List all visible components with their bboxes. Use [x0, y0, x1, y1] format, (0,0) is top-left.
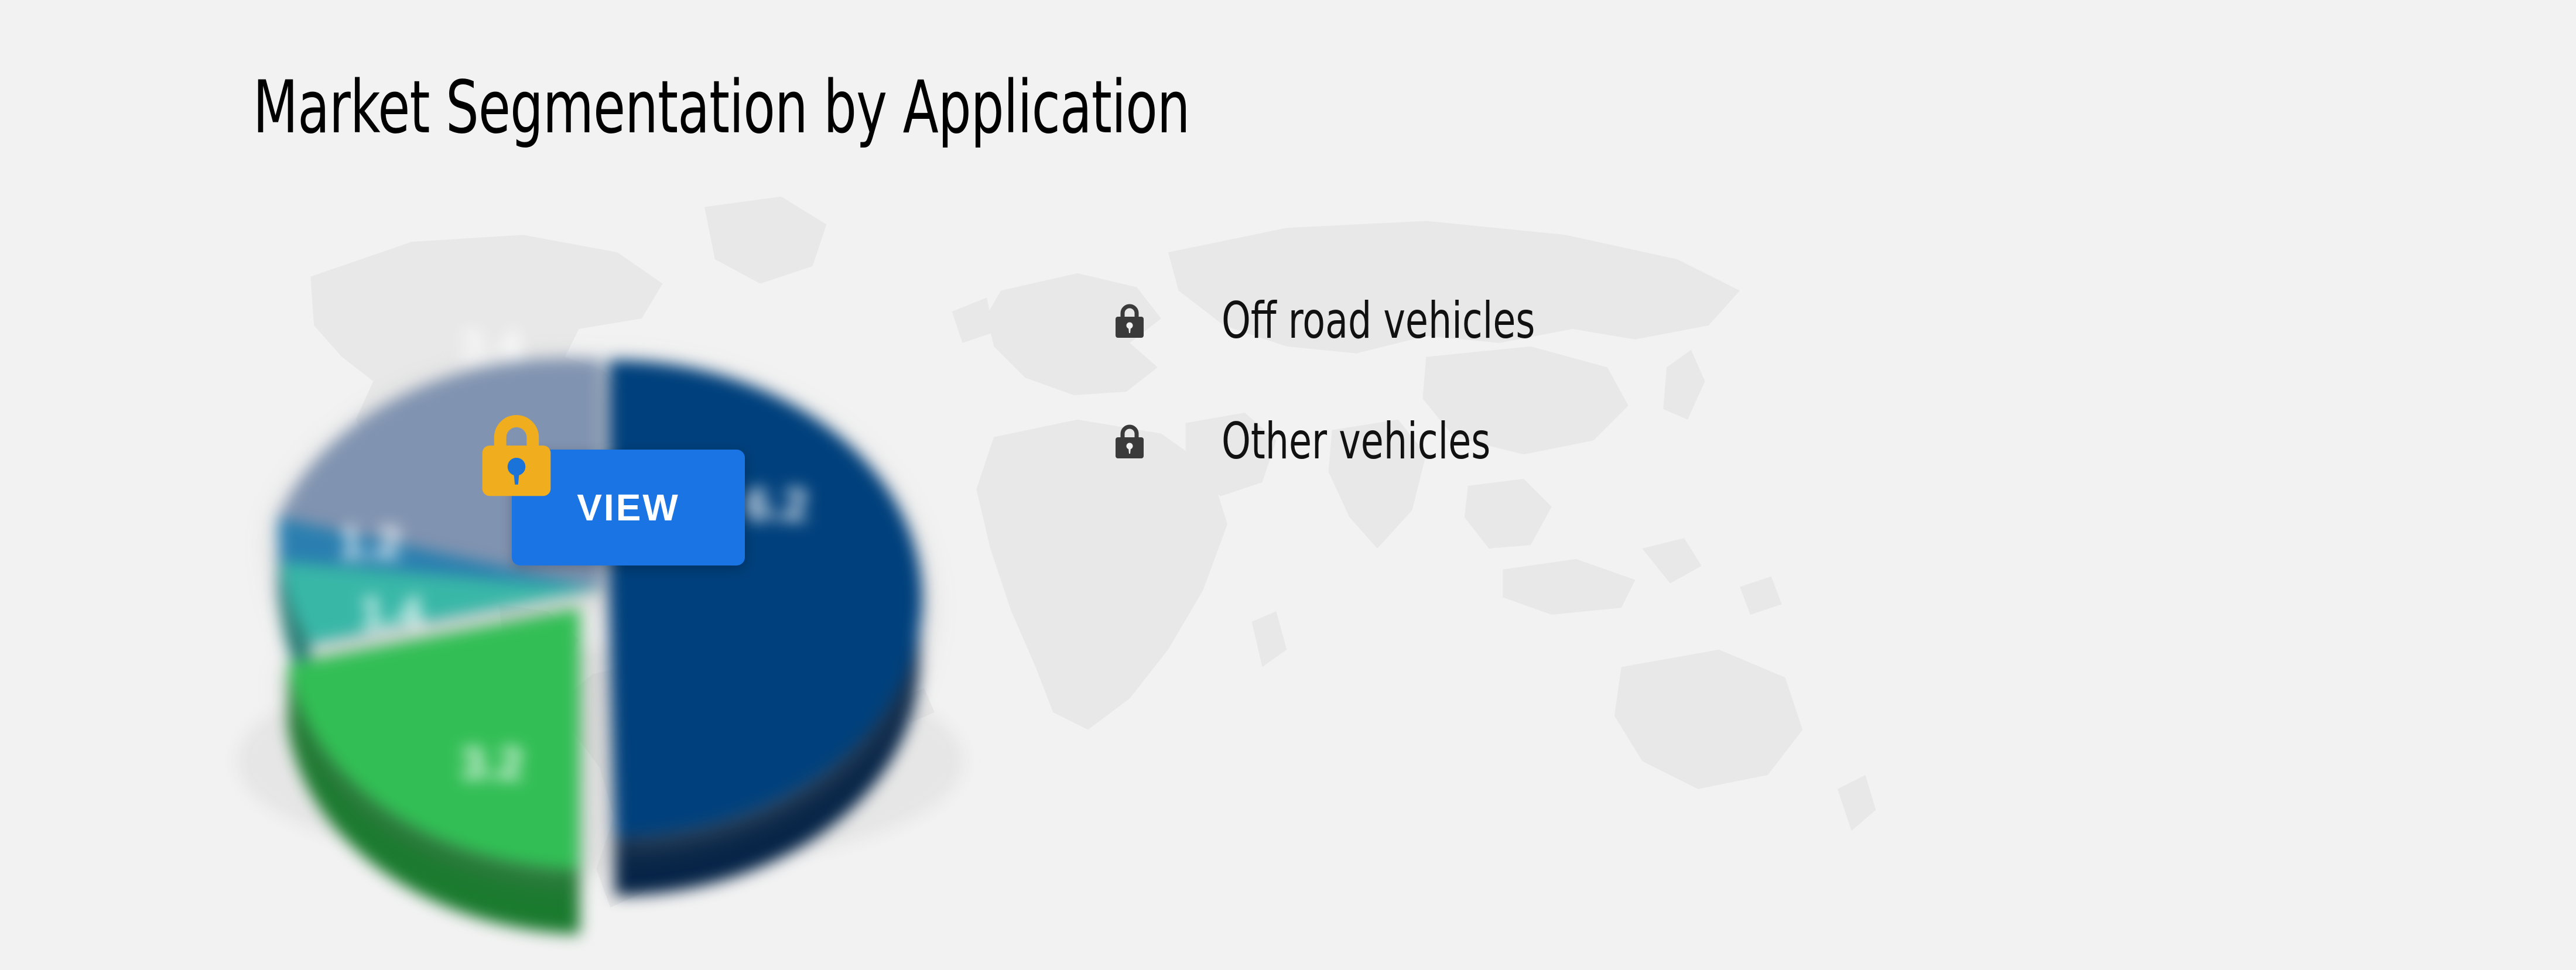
- slice-label-slate: 3.4: [459, 321, 522, 372]
- unlock-overlay: VIEW: [475, 410, 751, 574]
- lock-icon: [1113, 302, 1147, 340]
- slide-canvas: Market Segmentation by Application: [0, 0, 2576, 970]
- page-title: Market Segmentation by Application: [253, 68, 1190, 148]
- legend-item-other-vehicles[interactable]: Other vehicles: [1113, 413, 1991, 469]
- view-button-label: VIEW: [577, 489, 680, 526]
- legend-item-label: Off road vehicles: [1222, 296, 1535, 346]
- legend-item-label: Other vehicles: [1222, 416, 1490, 467]
- slice-label-blue: 1.2: [338, 517, 402, 568]
- lock-icon: [1113, 423, 1147, 460]
- chart-legend: Off road vehicles Other vehicles: [1113, 293, 1991, 534]
- world-map-watermark: [199, 176, 1956, 925]
- slice-label-teal: 1.4: [360, 587, 423, 639]
- slice-label-navy: 6.2: [745, 479, 808, 530]
- lock-icon-gold: [475, 410, 557, 498]
- legend-item-off-road-vehicles[interactable]: Off road vehicles: [1113, 293, 1991, 349]
- slice-label-green: 3.2: [460, 738, 524, 789]
